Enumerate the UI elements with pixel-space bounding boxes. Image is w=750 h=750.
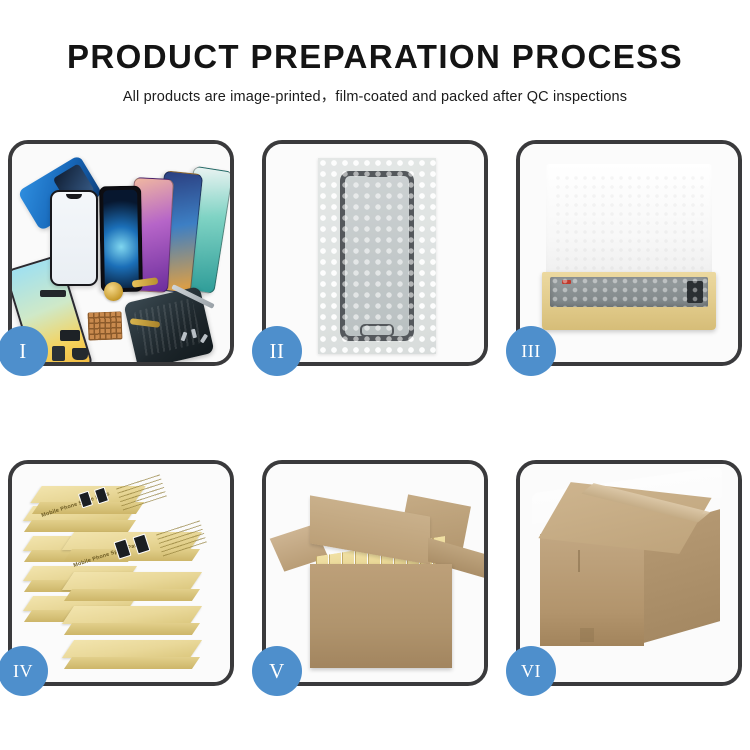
speaker-part <box>40 290 66 297</box>
step-badge-2: II <box>252 326 302 376</box>
scene-bubble-wrapping <box>266 144 484 362</box>
scene-product-range <box>12 144 230 362</box>
retail-box-stack: Mobile Phone Spare Parts Mobile Phone Sp… <box>22 480 220 672</box>
step-badge-5: V <box>252 646 302 696</box>
screws-group <box>180 328 214 346</box>
carton-body <box>310 564 452 668</box>
copper-mesh-part <box>88 311 123 340</box>
page-title: PRODUCT PREPARATION PROCESS <box>0 38 750 76</box>
scene-inner-box-packing <box>520 144 738 362</box>
chip-part <box>60 330 80 341</box>
step-badge-4: IV <box>0 646 48 696</box>
panel-image-3 <box>520 144 738 362</box>
process-step-panel-6: VI <box>516 460 742 686</box>
panel-image-4: Mobile Phone Spare Parts Mobile Phone Sp… <box>12 464 230 682</box>
header: PRODUCT PREPARATION PROCESS All products… <box>0 0 750 106</box>
wrapped-screen <box>340 171 414 341</box>
screen-glass-icon <box>50 190 98 286</box>
process-step-panel-4: Mobile Phone Spare Parts Mobile Phone Sp… <box>8 460 234 686</box>
product-preparation-infographic: PRODUCT PREPARATION PROCESS All products… <box>0 0 750 750</box>
page-subtitle: All products are image-printed，film-coat… <box>0 85 750 106</box>
scene-carton-filling <box>266 464 484 682</box>
panel-image-6 <box>520 464 738 682</box>
process-step-panel-1: I <box>8 140 234 366</box>
phone-fan-group <box>100 162 230 292</box>
scene-boxed-stack: Mobile Phone Spare Parts Mobile Phone Sp… <box>12 464 230 682</box>
chip-part <box>52 346 65 361</box>
wrapped-screen-in-box <box>550 277 708 307</box>
process-step-panel-3: III <box>516 140 742 366</box>
process-step-panel-5: V <box>262 460 488 686</box>
camera-part <box>72 348 88 360</box>
panel-image-1 <box>12 144 230 362</box>
panel-image-2 <box>266 144 484 362</box>
step-badge-3: III <box>506 326 556 376</box>
process-step-grid: I II <box>8 140 742 686</box>
kraft-inner-box <box>542 272 716 330</box>
scene-sealed-carton <box>520 464 738 682</box>
process-step-panel-2: II <box>262 140 488 366</box>
bubble-wrap-sheet <box>318 158 436 354</box>
step-badge-1: I <box>0 326 48 376</box>
foam-lining <box>546 164 712 288</box>
step-badge-6: VI <box>506 646 556 696</box>
panel-image-5 <box>266 464 484 682</box>
coil-part-icon <box>104 282 123 301</box>
